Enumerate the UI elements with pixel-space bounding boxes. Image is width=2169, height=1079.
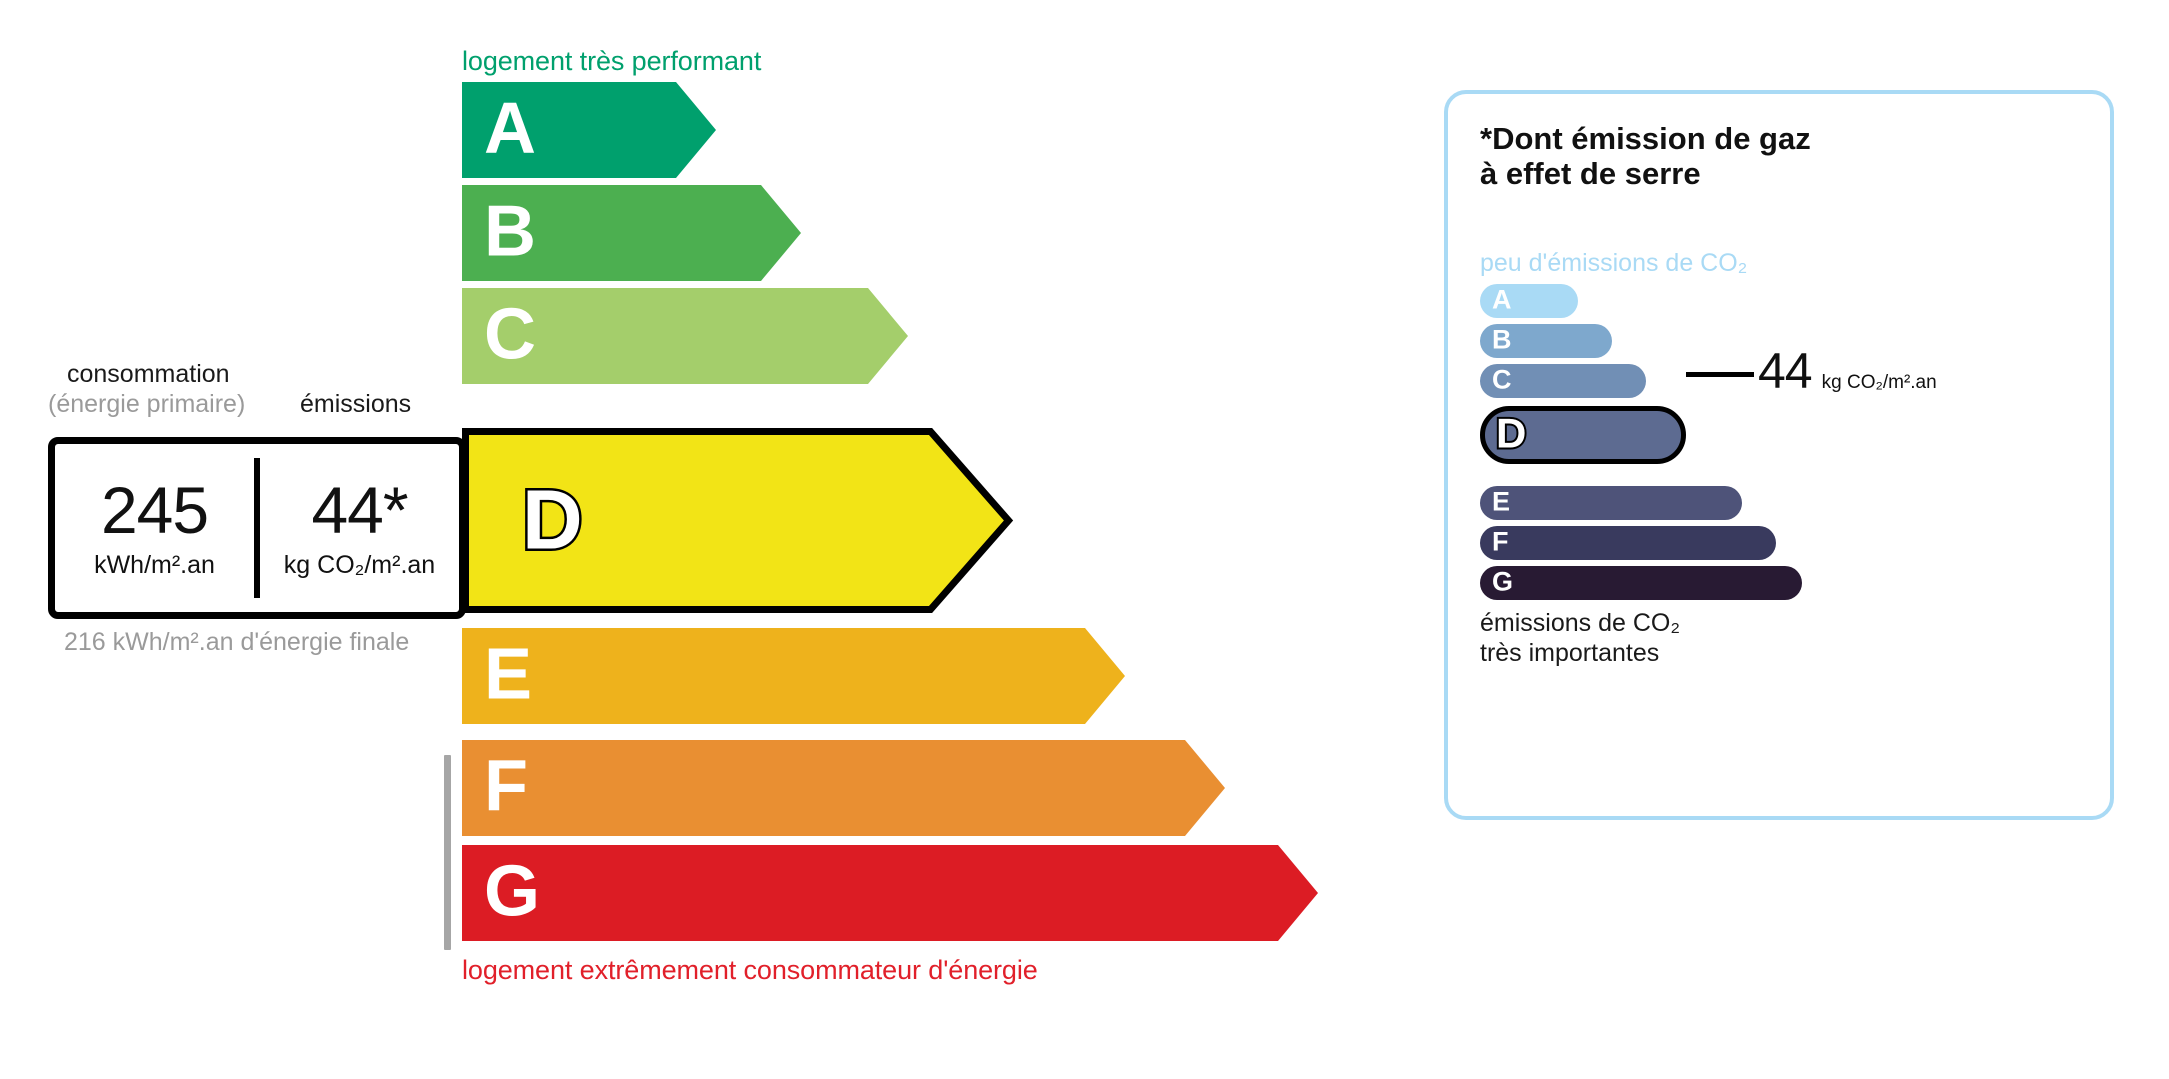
energy-scale-panel: logement très performant ABCDEFG logemen…: [0, 0, 1400, 1079]
co2-bottom-caption: émissions de CO₂ très importantes: [1480, 609, 1680, 668]
energy-arrow-b: B: [462, 185, 801, 281]
co2-class-letter-f: F: [1492, 529, 1509, 556]
consumption-value-cell: 245 kWh/m².an: [55, 444, 254, 612]
final-energy-note: 216 kWh/m².an d'énergie finale: [64, 628, 409, 658]
co2-class-letter-d: D: [1496, 413, 1526, 455]
co2-bar-b: B: [1480, 324, 1612, 358]
energy-arrow-e: E: [462, 628, 1125, 724]
co2-bar-c: C: [1480, 364, 1646, 398]
energy-arrow-f: F: [462, 740, 1225, 836]
energy-top-caption: logement très performant: [462, 46, 761, 77]
arrow-shape: [462, 185, 801, 281]
energy-arrow-c: C: [462, 288, 908, 384]
arrow-shape: [462, 740, 1225, 836]
energy-arrow-a: A: [462, 82, 716, 178]
co2-value-group: 44 kg CO₂/m².an: [1758, 346, 1937, 396]
arrow-shape: [462, 628, 1125, 724]
arrow-shape: [462, 82, 716, 178]
co2-leader-line: [1686, 372, 1754, 377]
arrow-shape: [462, 288, 908, 384]
co2-class-letter-g: G: [1492, 569, 1513, 596]
arrow-shape: [462, 428, 1012, 613]
arrow-shape: [462, 845, 1318, 941]
emissions-unit: kg CO₂/m².an: [284, 551, 435, 580]
co2-class-letter-b: B: [1492, 327, 1512, 354]
emissions-value-cell: 44* kg CO₂/m².an: [260, 444, 459, 612]
co2-panel-title: *Dont émission de gaz à effet de serre: [1480, 122, 1811, 191]
co2-bar-d: D: [1480, 406, 1686, 464]
co2-bar-g: G: [1480, 566, 1802, 600]
energy-arrow-g: G: [462, 845, 1318, 941]
co2-bar-shape: [1480, 526, 1776, 560]
co2-class-letter-c: C: [1492, 367, 1512, 394]
energy-bottom-caption: logement extrêmement consommateur d'éner…: [462, 955, 1038, 986]
co2-bar-e: E: [1480, 486, 1742, 520]
consumption-unit: kWh/m².an: [94, 551, 215, 580]
co2-bar-a: A: [1480, 284, 1578, 318]
consumption-sublabel: (énergie primaire): [48, 390, 245, 419]
co2-value-unit: kg CO₂/m².an: [1822, 372, 1937, 394]
co2-class-letter-e: E: [1492, 489, 1510, 516]
passoire-bracket: [444, 755, 451, 950]
co2-bar-shape: [1480, 566, 1802, 600]
co2-bar-shape: [1480, 486, 1742, 520]
dpe-diagram: logement très performant ABCDEFG logemen…: [0, 0, 2169, 1079]
consumption-value: 245: [101, 477, 208, 543]
emissions-label: émissions: [300, 390, 411, 419]
co2-class-letter-a: A: [1492, 287, 1512, 314]
co2-bar-f: F: [1480, 526, 1776, 560]
energy-arrow-d: D: [462, 428, 1012, 613]
value-box: 245 kWh/m².an 44* kg CO₂/m².an: [48, 437, 466, 619]
co2-panel: *Dont émission de gaz à effet de serre p…: [1444, 90, 2114, 820]
consumption-label: consommation: [67, 360, 230, 389]
emissions-value: 44*: [311, 477, 407, 543]
co2-value: 44: [1758, 346, 1812, 396]
co2-top-caption: peu d'émissions de CO₂: [1480, 249, 1747, 278]
